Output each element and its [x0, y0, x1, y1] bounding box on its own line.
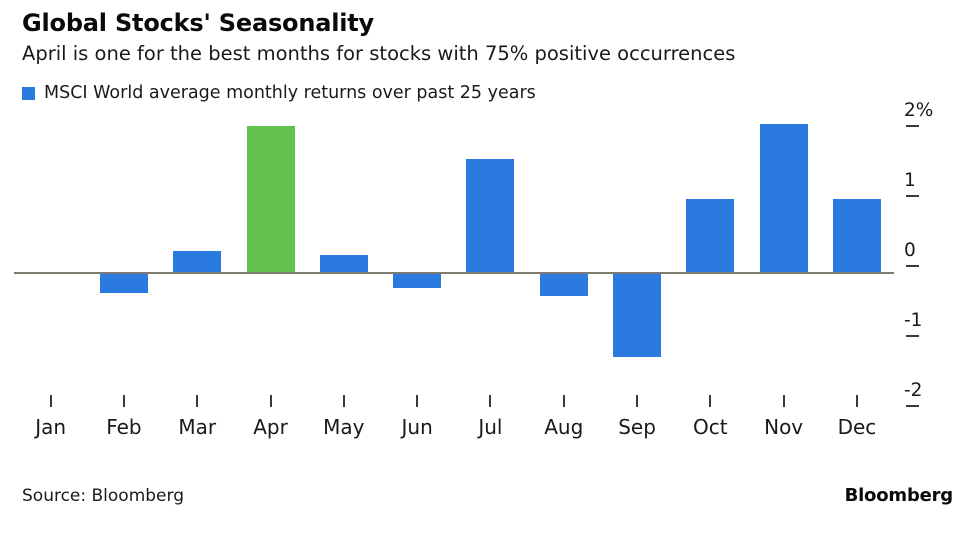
x-axis-tick-jul: Jul — [455, 395, 525, 439]
x-axis-tick-nov: Nov — [749, 395, 819, 439]
y-axis-tick-label: 1 — [896, 171, 956, 191]
x-axis-tick-mark — [636, 395, 638, 407]
x-axis-tick-jun: Jun — [382, 395, 452, 439]
y-axis-tick: -1 — [896, 311, 956, 331]
x-axis-tick-mark — [50, 395, 52, 407]
y-axis-tick-label: 0 — [896, 241, 956, 261]
x-axis-tick-mark — [709, 395, 711, 407]
x-axis-tick-label: Sep — [602, 415, 672, 439]
x-axis-tick-oct: Oct — [675, 395, 745, 439]
x-axis-tick-label: Aug — [529, 415, 599, 439]
x-axis-tick-label: Jun — [382, 415, 452, 439]
x-axis-tick-mar: Mar — [162, 395, 232, 439]
zero-baseline — [14, 272, 894, 274]
x-axis-tick-label: Jul — [455, 415, 525, 439]
y-axis: 2%10-1-2 — [896, 0, 975, 470]
x-axis-tick-label: Dec — [822, 415, 892, 439]
y-axis-tick-mark — [906, 405, 919, 407]
x-axis-tick-mark — [856, 395, 858, 407]
chart-page: Global Stocks' Seasonality April is one … — [0, 0, 975, 535]
x-axis-tick-label: Feb — [89, 415, 159, 439]
x-axis-tick-label: Nov — [749, 415, 819, 439]
y-axis-tick-label: -2 — [896, 381, 956, 401]
y-axis-tick-label: 2% — [896, 101, 956, 121]
x-axis-tick-label: Jan — [16, 415, 86, 439]
y-axis-tick: 1 — [896, 171, 956, 191]
x-axis-tick-mark — [783, 395, 785, 407]
chart-footer: Source: Bloomberg Bloomberg — [0, 485, 975, 525]
y-axis-tick-mark — [906, 195, 919, 197]
x-axis-tick-feb: Feb — [89, 395, 159, 439]
x-axis-tick-label: Oct — [675, 415, 745, 439]
brand-label: Bloomberg — [845, 485, 953, 507]
x-axis-tick-mark — [489, 395, 491, 407]
x-axis-tick-mark — [343, 395, 345, 407]
x-axis-tick-mark — [416, 395, 418, 407]
x-axis-tick-label: Mar — [162, 415, 232, 439]
y-axis-tick-mark — [906, 335, 919, 337]
x-axis-tick-mark — [123, 395, 125, 407]
bar-aug — [540, 273, 588, 296]
bar-dec — [833, 199, 881, 272]
bar-nov — [760, 124, 808, 272]
bar-apr — [247, 126, 295, 272]
x-axis-tick-mark — [563, 395, 565, 407]
bar-may — [320, 255, 368, 272]
x-axis: JanFebMarAprMayJunJulAugSepOctNovDec — [0, 395, 900, 455]
y-axis-tick: 0 — [896, 241, 956, 261]
y-axis-tick-mark — [906, 125, 919, 127]
bar-sep — [613, 273, 661, 357]
bar-jun — [393, 273, 441, 288]
x-axis-tick-mark — [270, 395, 272, 407]
x-axis-tick-dec: Dec — [822, 395, 892, 439]
x-axis-tick-may: May — [309, 395, 379, 439]
bar-oct — [686, 199, 734, 272]
bar-mar — [173, 251, 221, 272]
x-axis-tick-label: May — [309, 415, 379, 439]
x-axis-tick-jan: Jan — [16, 395, 86, 439]
x-axis-tick-mark — [196, 395, 198, 407]
x-axis-tick-sep: Sep — [602, 395, 672, 439]
y-axis-tick-mark — [906, 265, 919, 267]
x-axis-tick-aug: Aug — [529, 395, 599, 439]
x-axis-tick-apr: Apr — [236, 395, 306, 439]
x-axis-tick-label: Apr — [236, 415, 306, 439]
bar-jul — [466, 159, 514, 272]
y-axis-tick-label: -1 — [896, 311, 956, 331]
bar-feb — [100, 273, 148, 293]
y-axis-tick: 2% — [896, 101, 956, 121]
y-axis-tick: -2 — [896, 381, 956, 401]
source-label: Source: Bloomberg — [22, 485, 184, 507]
